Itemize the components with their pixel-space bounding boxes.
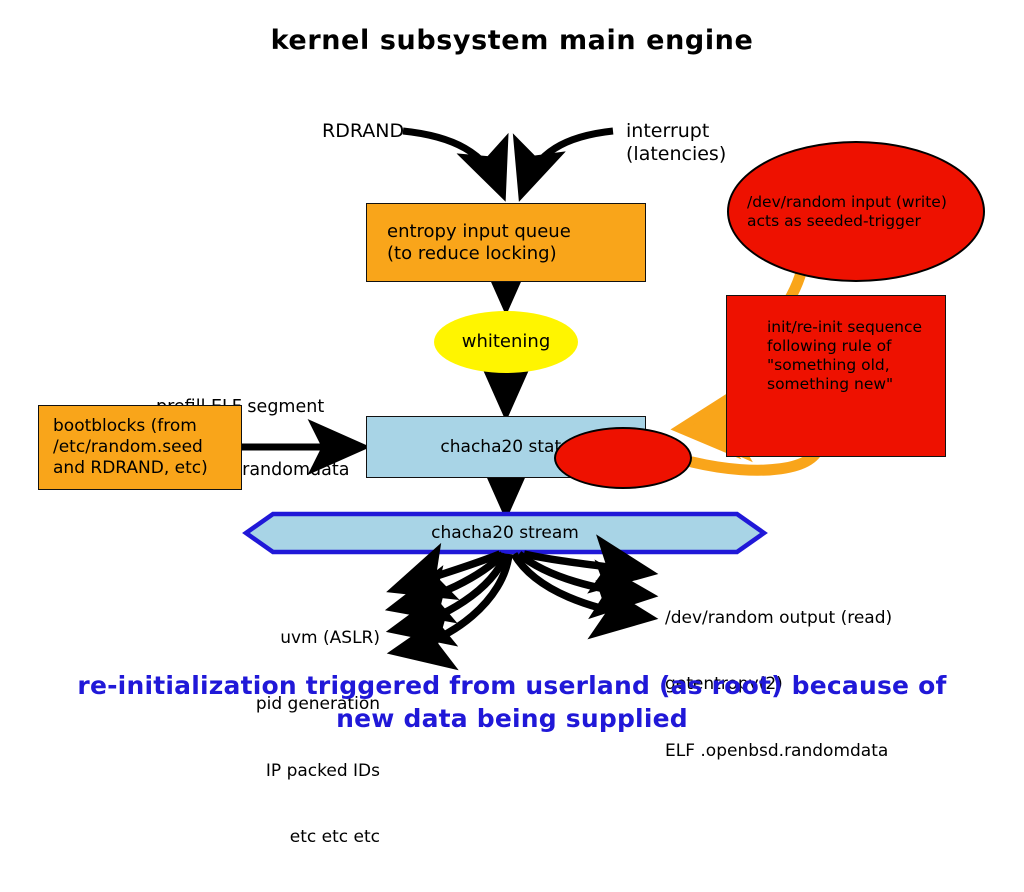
dev-random-input-line-1: /dev/random input (write) (747, 193, 965, 212)
bootblocks-line-1: bootblocks (from (53, 416, 241, 437)
label-interrupt: interrupt (latencies) (626, 120, 726, 166)
bottom-caption: re-initialization triggered from userlan… (0, 669, 1024, 735)
init-sequence-line-4: something new" (767, 375, 945, 394)
arrow-interrupt-to-queue (523, 131, 613, 190)
node-reseed-marker[interactable] (554, 427, 692, 489)
output-left-item-1: uvm (ASLR) (200, 627, 380, 649)
node-init-reinit-sequence[interactable]: init/re-init sequence following rule of … (726, 295, 946, 457)
init-sequence-line-1: init/re-init sequence (767, 318, 945, 337)
label-rdrand: RDRAND (322, 120, 404, 143)
output-left-item-3: IP packed IDs (200, 760, 380, 782)
init-sequence-line-2: following rule of (767, 337, 945, 356)
bootblocks-line-3: and RDRAND, etc) (53, 458, 241, 479)
arrow-rdrand-to-queue (403, 131, 501, 190)
node-dev-random-input[interactable]: /dev/random input (write) acts as seeded… (727, 141, 985, 282)
caption-line-2: new data being supplied (0, 702, 1024, 735)
init-sequence-line-3: "something old, (767, 356, 945, 375)
bootblocks-line-2: /etc/random.seed (53, 437, 241, 458)
caption-line-1: re-initialization triggered from userlan… (0, 669, 1024, 702)
output-right-item-1: /dev/random output (read) (665, 607, 892, 629)
diagram-canvas: kernel subsystem main engine RDRAND inte… (0, 0, 1024, 768)
page-title: kernel subsystem main engine (0, 25, 1024, 56)
node-entropy-input-queue[interactable]: entropy input queue (to reduce locking) (366, 203, 646, 282)
dev-random-input-line-2: acts as seeded-trigger (747, 212, 965, 231)
output-left-item-4: etc etc etc (200, 826, 380, 848)
whitening-label: whitening (434, 331, 578, 353)
outputs-left-list: uvm (ASLR) pid generation IP packed IDs … (200, 583, 380, 892)
node-chacha20-stream-label: chacha20 stream (246, 523, 764, 543)
node-bootblocks[interactable]: bootblocks (from /etc/random.seed and RD… (38, 405, 242, 490)
output-right-item-3: ELF .openbsd.randomdata (665, 740, 892, 762)
entropy-queue-line-2: (to reduce locking) (387, 243, 645, 265)
node-whitening[interactable]: whitening (434, 311, 578, 373)
entropy-queue-line-1: entropy input queue (387, 221, 645, 243)
